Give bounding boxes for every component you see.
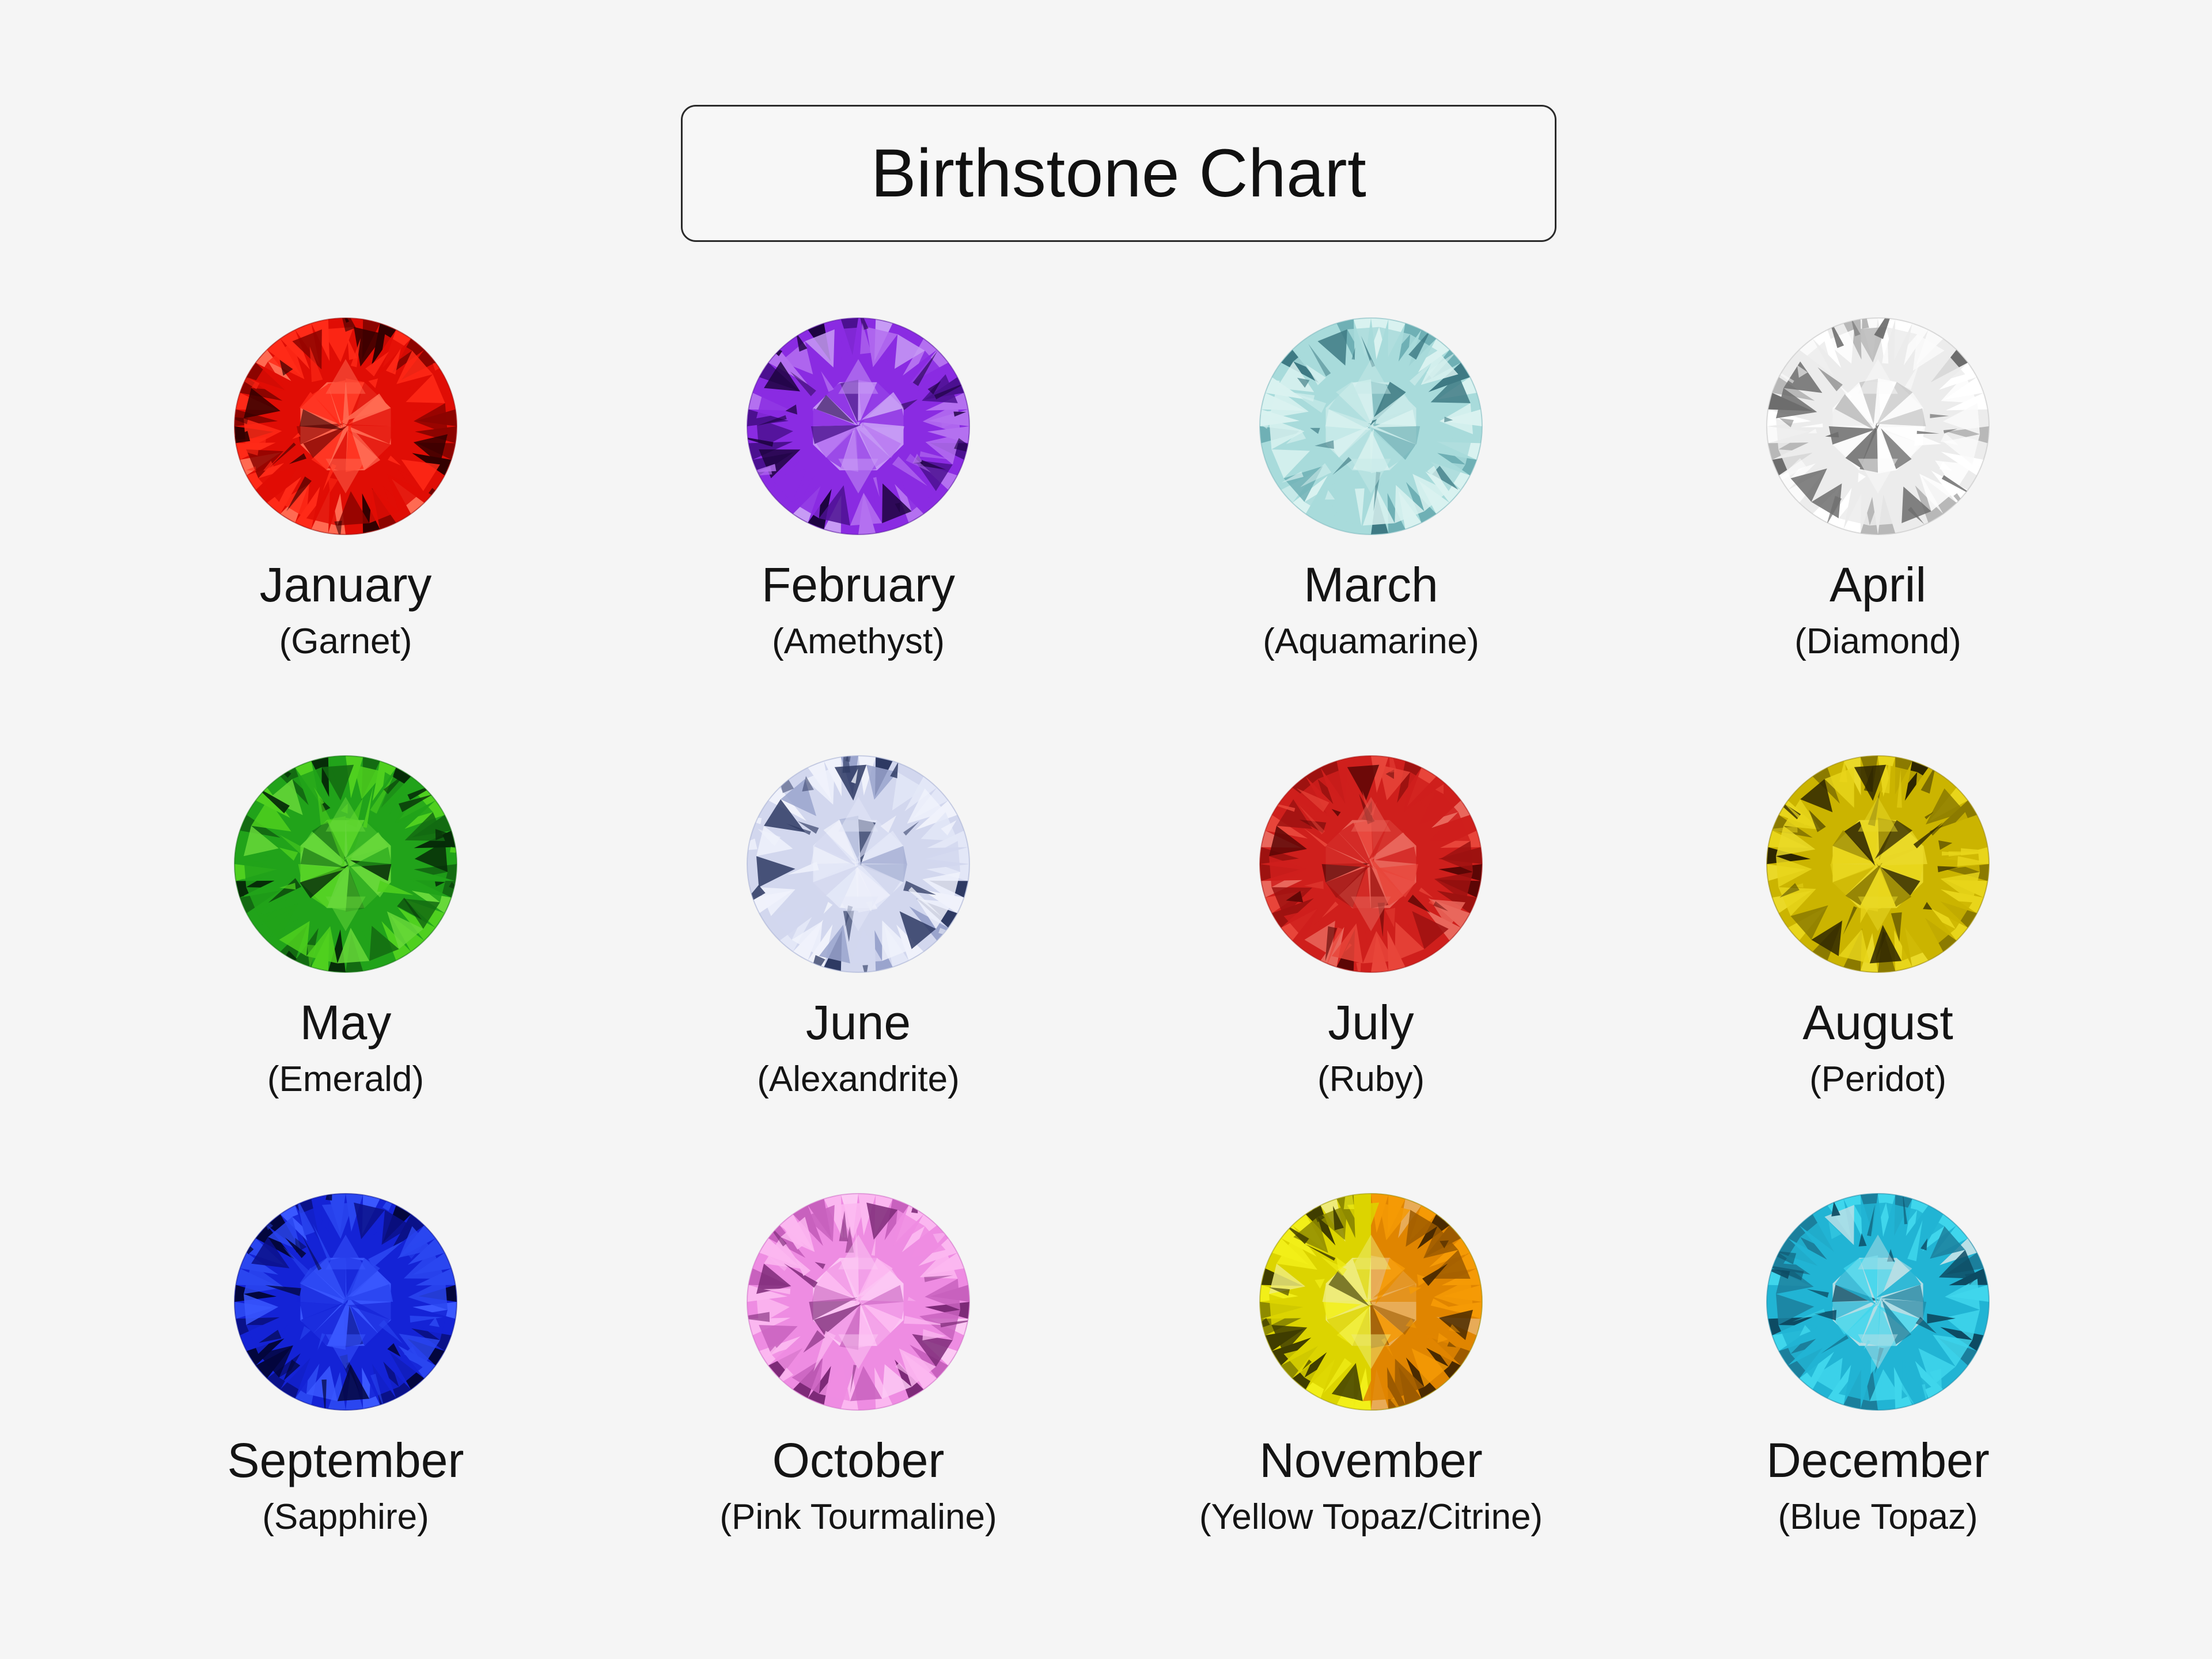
birthstone-cell-october[interactable]: October(Pink Tourmaline) <box>582 1190 1135 1627</box>
round-brilliant-gem-icon <box>1763 314 1993 539</box>
stone-label: (Yellow Topaz/Citrine) <box>1199 1499 1543 1535</box>
birthstone-cell-november[interactable]: November(Yellow Topaz/Citrine) <box>1094 1190 1647 1627</box>
birthstone-cell-may[interactable]: May(Emerald) <box>69 752 622 1190</box>
month-label: October <box>772 1436 945 1484</box>
month-label: November <box>1259 1436 1482 1484</box>
birthstone-cell-june[interactable]: June(Alexandrite) <box>582 752 1135 1190</box>
stone-label: (Emerald) <box>267 1062 424 1097</box>
birthstone-cell-december[interactable]: December(Blue Topaz) <box>1601 1190 2154 1627</box>
stone-label: (Blue Topaz) <box>1778 1499 1978 1535</box>
stone-label: (Aquamarine) <box>1263 624 1479 660</box>
stone-label: (Pink Tourmaline) <box>719 1499 997 1535</box>
page-title-box: Birthstone Chart <box>681 105 1556 242</box>
birthstone-chart-page: Birthstone Chart January(Garnet)February… <box>0 0 2212 1659</box>
round-brilliant-gem-split-icon <box>1256 1190 1486 1414</box>
month-label: September <box>228 1436 464 1484</box>
month-label: February <box>762 560 955 609</box>
birthstone-cell-july[interactable]: July(Ruby) <box>1094 752 1647 1190</box>
month-label: August <box>1802 998 1953 1047</box>
round-brilliant-gem-icon <box>1256 314 1486 539</box>
round-brilliant-gem-icon <box>230 1190 461 1414</box>
round-brilliant-gem-icon <box>230 314 461 539</box>
birthstone-cell-april[interactable]: April(Diamond) <box>1601 314 2154 752</box>
birthstone-grid: January(Garnet)February(Amethyst)March(A… <box>0 314 2212 1627</box>
month-label: July <box>1328 998 1414 1047</box>
month-label: May <box>300 998 392 1047</box>
stone-label: (Alexandrite) <box>757 1062 959 1097</box>
birthstone-cell-january[interactable]: January(Garnet) <box>69 314 622 752</box>
round-brilliant-gem-icon <box>743 314 974 539</box>
birthstone-cell-february[interactable]: February(Amethyst) <box>582 314 1135 752</box>
month-label: April <box>1830 560 1926 609</box>
stone-label: (Amethyst) <box>772 624 945 660</box>
birthstone-cell-march[interactable]: March(Aquamarine) <box>1094 314 1647 752</box>
round-brilliant-gem-icon <box>743 1190 974 1414</box>
round-brilliant-gem-icon <box>743 752 974 976</box>
stone-label: (Ruby) <box>1317 1062 1425 1097</box>
round-brilliant-gem-icon <box>1256 752 1486 976</box>
round-brilliant-gem-icon <box>1763 1190 1993 1414</box>
birthstone-cell-august[interactable]: August(Peridot) <box>1601 752 2154 1190</box>
month-label: December <box>1766 1436 1989 1484</box>
stone-label: (Sapphire) <box>262 1499 429 1535</box>
round-brilliant-gem-icon <box>230 752 461 976</box>
birthstone-cell-september[interactable]: September(Sapphire) <box>69 1190 622 1627</box>
month-label: January <box>260 560 432 609</box>
month-label: June <box>806 998 911 1047</box>
month-label: March <box>1304 560 1438 609</box>
stone-label: (Diamond) <box>1794 624 1961 660</box>
stone-label: (Peridot) <box>1809 1062 1946 1097</box>
page-title: Birthstone Chart <box>871 139 1367 207</box>
round-brilliant-gem-icon <box>1763 752 1993 976</box>
stone-label: (Garnet) <box>279 624 412 660</box>
